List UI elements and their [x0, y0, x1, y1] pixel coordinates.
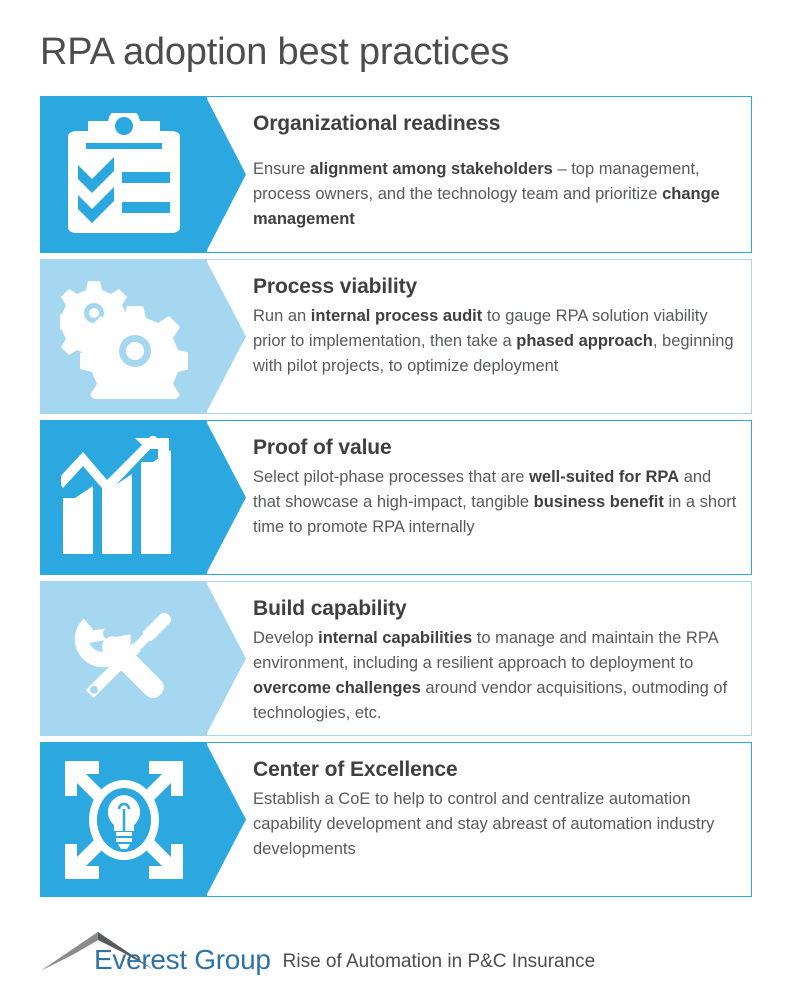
card-heading: Process viability	[253, 272, 741, 302]
wrench-screwdriver-icon	[41, 582, 207, 735]
clipboard-checklist-icon	[41, 97, 207, 252]
card-heading: Organizational readiness	[253, 109, 741, 139]
title-block: RPA adoption best practices	[40, 28, 752, 90]
chevron-point	[206, 421, 246, 574]
card-organizational-readiness[interactable]: Organizational readiness Ensure alignmen…	[40, 96, 752, 253]
card-text: Establish a CoE to help to control and c…	[253, 787, 741, 862]
lightbulb-expand-icon	[41, 743, 207, 896]
card-text: Select pilot-phase processes that are we…	[253, 465, 741, 540]
card-body: Process viability Run an internal proces…	[253, 260, 741, 413]
logo-wordmark: Everest Group	[94, 946, 271, 974]
best-practices-card-list: Organizational readiness Ensure alignmen…	[40, 96, 752, 903]
card-body: Organizational readiness Ensure alignmen…	[253, 97, 741, 252]
card-heading: Proof of value	[253, 433, 741, 463]
card-build-capability[interactable]: Build capability Develop internal capabi…	[40, 581, 752, 736]
infographic-root: RPA adoption best practices	[0, 0, 790, 998]
card-text: Develop internal capabilities to manage …	[253, 626, 741, 726]
card-text: Ensure alignment among stakeholders – to…	[253, 157, 741, 232]
card-center-of-excellence[interactable]: Center of Excellence Establish a CoE to …	[40, 742, 752, 897]
card-text: Run an internal process audit to gauge R…	[253, 304, 741, 379]
card-body: Center of Excellence Establish a CoE to …	[253, 743, 741, 896]
growth-chart-arrow-icon	[41, 421, 207, 574]
card-body: Build capability Develop internal capabi…	[253, 582, 741, 735]
card-heading: Build capability	[253, 594, 741, 624]
card-process-viability[interactable]: Process viability Run an internal proces…	[40, 259, 752, 414]
card-proof-of-value[interactable]: Proof of value Select pilot-phase proces…	[40, 420, 752, 575]
footer: Everest Group Rise of Automation in P&C …	[40, 914, 752, 974]
chevron-point	[206, 260, 246, 413]
chevron-point	[206, 743, 246, 896]
footer-caption: Rise of Automation in P&C Insurance	[283, 951, 596, 974]
page-title: RPA adoption best practices	[40, 28, 752, 76]
gears-icon	[41, 260, 207, 413]
everest-group-logo: Everest Group	[40, 928, 271, 974]
chevron-point	[206, 582, 246, 735]
card-heading: Center of Excellence	[253, 755, 741, 785]
card-body: Proof of value Select pilot-phase proces…	[253, 421, 741, 574]
chevron-point	[206, 97, 246, 252]
